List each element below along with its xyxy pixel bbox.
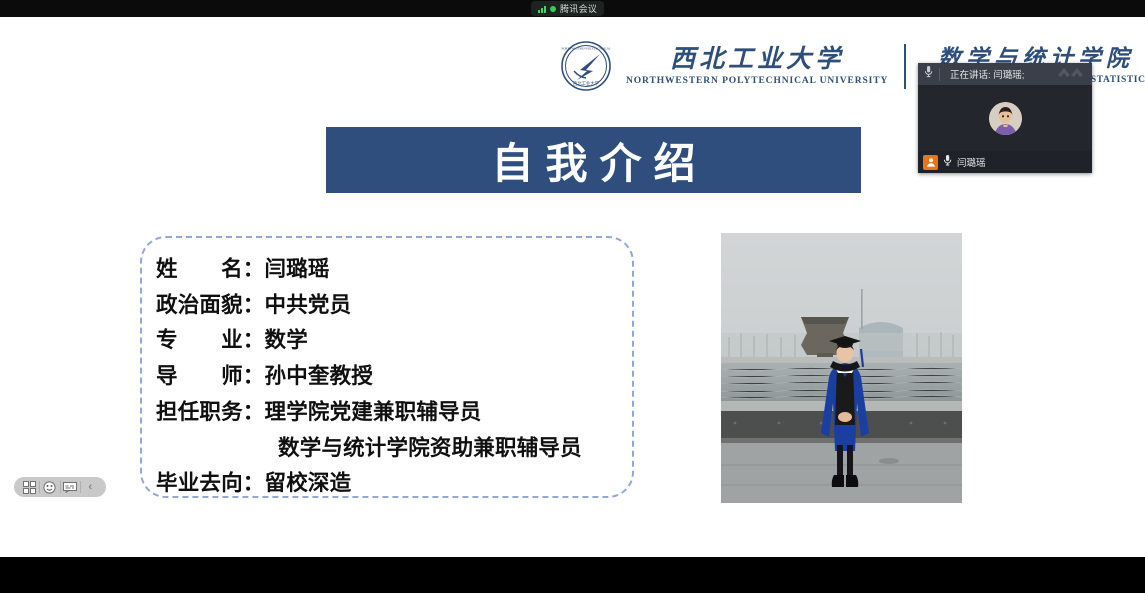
participant-name: 闫璐瑶: [957, 155, 986, 169]
signal-bars-icon: [538, 5, 546, 13]
header-divider: [904, 44, 906, 89]
subtitles-icon[interactable]: [61, 477, 80, 497]
avatar: [989, 102, 1022, 135]
slide-title-banner: 自我介绍: [326, 127, 861, 193]
info-line: 导 师：孙中奎教授: [156, 359, 632, 395]
microphone-icon[interactable]: [943, 153, 952, 171]
info-line: 政治面貌：中共党员: [156, 288, 632, 324]
bottom-letterbox: [0, 557, 1145, 593]
page-title: 自我介绍: [479, 130, 707, 191]
video-panel-footer: 闫璐瑶: [918, 151, 1092, 173]
university-name-en: NORTHWESTERN POLYTECHNICAL UNIVERSITY: [626, 76, 888, 86]
system-top-bar: 腾讯会议: [0, 0, 1145, 17]
tencent-meeting-label: 腾讯会议: [560, 2, 597, 15]
info-line: 毕业去向：留校深造: [156, 466, 632, 502]
tencent-meeting-indicator[interactable]: 腾讯会议: [531, 1, 604, 16]
university-name-block: 西北工业大学 NORTHWESTERN POLYTECHNICAL UNIVER…: [626, 46, 888, 85]
info-line: 担任职务：理学院党建兼职辅导员: [156, 395, 632, 431]
nwpu-emblem-icon: 西北工业大学 NORTHWESTERN POLYTECHNICAL: [560, 40, 612, 92]
info-box: 姓 名：闫璐瑶 政治面貌：中共党员 专 业：数学 导 师：孙中奎教授 担任职务：…: [140, 236, 634, 498]
info-line: 姓 名：闫璐瑶: [156, 252, 632, 288]
header-separator: [939, 68, 940, 81]
green-recording-dot: [550, 6, 556, 12]
video-panel-header[interactable]: 正在讲话: 闫璐瑶;: [918, 63, 1092, 85]
screen-root: 腾讯会议 西北工业大学 NORTHWESTERN POLYTECHNICAL 西…: [0, 0, 1145, 593]
chevron-left-icon[interactable]: ‹: [81, 477, 100, 497]
graduation-photo: [721, 233, 962, 503]
video-panel-body[interactable]: [918, 85, 1092, 151]
microphone-icon[interactable]: [924, 65, 933, 83]
university-name-cn: 西北工业大学: [670, 46, 844, 72]
video-panel[interactable]: 正在讲话: 闫璐瑶;: [918, 63, 1092, 173]
pen-emoji-icon[interactable]: [40, 477, 59, 497]
presenter-toolbar[interactable]: ‹: [14, 477, 106, 497]
slide-grid-icon[interactable]: [20, 477, 39, 497]
double-chevron-collapse-icon[interactable]: [1056, 65, 1086, 83]
svg-text:NORTHWESTERN POLYTECHNICAL: NORTHWESTERN POLYTECHNICAL: [561, 47, 611, 51]
info-line: 数学与统计学院资助兼职辅导员: [156, 431, 632, 467]
speaking-status-label: 正在讲话: 闫璐瑶;: [946, 67, 1050, 81]
person-badge-icon: [923, 155, 938, 170]
svg-text:西北工业大学: 西北工业大学: [573, 80, 599, 87]
info-line: 专 业：数学: [156, 323, 632, 359]
